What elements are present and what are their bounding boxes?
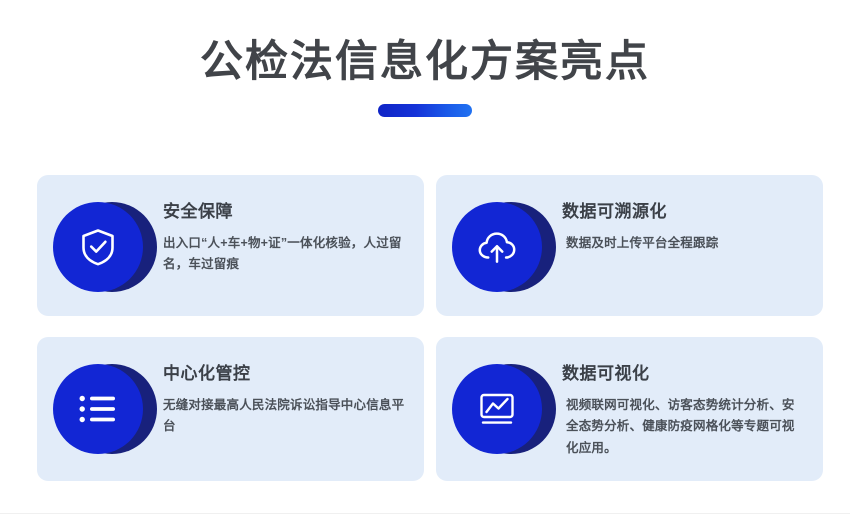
bullet-list-icon — [77, 393, 119, 425]
card-text: 数据可视化 视频联网可视化、访客态势统计分析、安全态势分析、健康防疫网格化等专题… — [562, 361, 805, 459]
card-description: 数据及时上传平台全程跟踪 — [562, 233, 805, 255]
card-description: 视频联网可视化、访客态势统计分析、安全态势分析、健康防疫网格化等专题可视化应用。 — [562, 395, 805, 460]
page-bottom-divider — [0, 513, 850, 514]
highlight-card-data-visualization[interactable]: 数据可视化 视频联网可视化、访客态势统计分析、安全态势分析、健康防疫网格化等专题… — [436, 337, 823, 481]
card-text: 数据可溯源化 数据及时上传平台全程跟踪 — [562, 199, 805, 254]
chart-monitor-icon — [476, 390, 518, 428]
highlight-card-data-traceability[interactable]: 数据可溯源化 数据及时上传平台全程跟踪 — [436, 175, 823, 316]
card-text: 中心化管控 无缝对接最高人民法院诉讼指导中心信息平台 — [163, 361, 406, 438]
card-title: 数据可溯源化 — [562, 203, 805, 222]
icon-container — [53, 361, 149, 457]
icon-badge — [53, 364, 143, 454]
page-title: 公检法信息化方案亮点 — [0, 38, 850, 87]
page-header: 公检法信息化方案亮点 — [0, 0, 850, 117]
icon-badge — [452, 364, 542, 454]
highlight-cards-grid: 安全保障 出入口“人+车+物+证”一体化核验，人过留名，车过留痕 — [37, 175, 823, 481]
icon-container — [452, 361, 548, 457]
icon-container — [53, 199, 149, 295]
card-description: 无缝对接最高人民法院诉讼指导中心信息平台 — [163, 395, 406, 438]
highlights-page: 公检法信息化方案亮点 安全保障 出入口“人+车+物+证”一体化核验，人 — [0, 0, 850, 516]
card-description: 出入口“人+车+物+证”一体化核验，人过留名，车过留痕 — [163, 233, 406, 276]
icon-container — [452, 199, 548, 295]
shield-check-icon — [79, 227, 117, 267]
title-accent-bar — [378, 104, 472, 117]
card-title: 安全保障 — [163, 203, 406, 222]
highlight-card-centralized-control[interactable]: 中心化管控 无缝对接最高人民法院诉讼指导中心信息平台 — [37, 337, 424, 481]
icon-badge — [452, 202, 542, 292]
highlight-card-security[interactable]: 安全保障 出入口“人+车+物+证”一体化核验，人过留名，车过留痕 — [37, 175, 424, 316]
card-title: 中心化管控 — [163, 365, 406, 384]
card-text: 安全保障 出入口“人+车+物+证”一体化核验，人过留名，车过留痕 — [163, 199, 406, 276]
icon-badge — [53, 202, 143, 292]
card-title: 数据可视化 — [562, 365, 805, 384]
cloud-upload-icon — [475, 227, 519, 267]
